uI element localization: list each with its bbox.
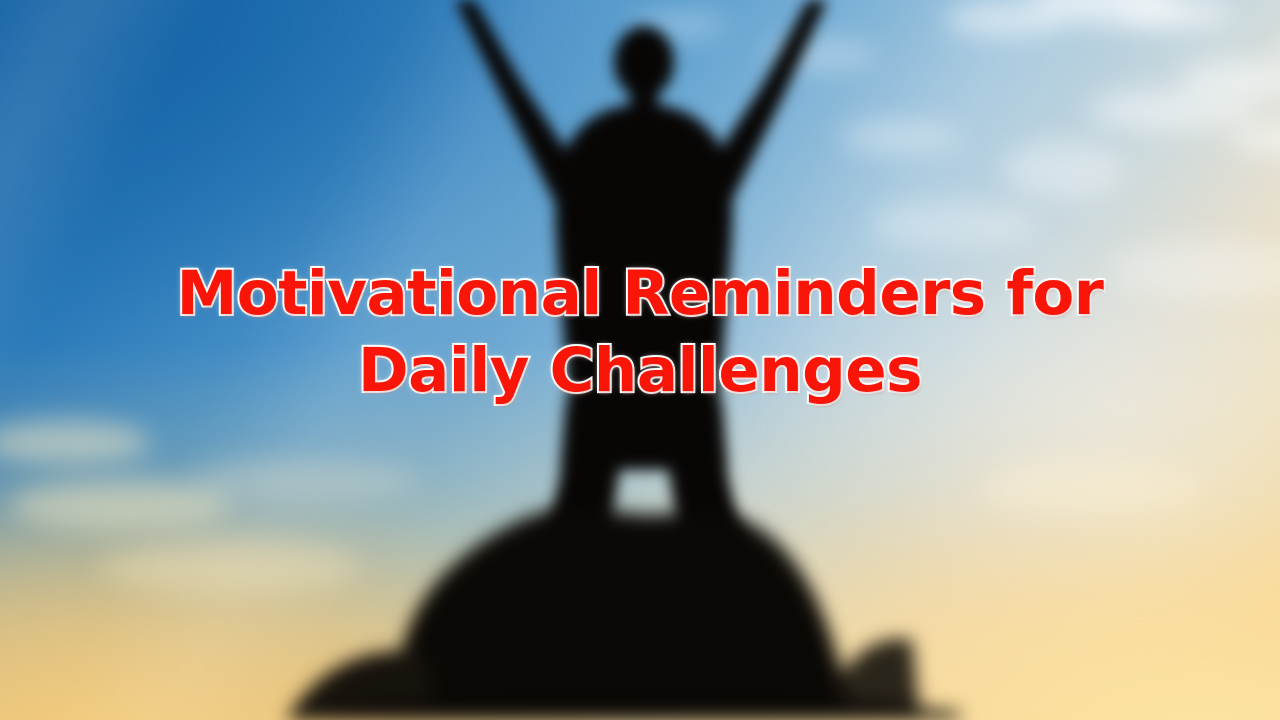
- headline-line-1: Motivational Reminders for: [0, 263, 1280, 324]
- headline-block: Motivational Reminders for Daily Challen…: [0, 263, 1280, 401]
- motivational-banner: Motivational Reminders for Daily Challen…: [0, 0, 1280, 720]
- headline-line-2: Daily Challenges: [0, 340, 1280, 401]
